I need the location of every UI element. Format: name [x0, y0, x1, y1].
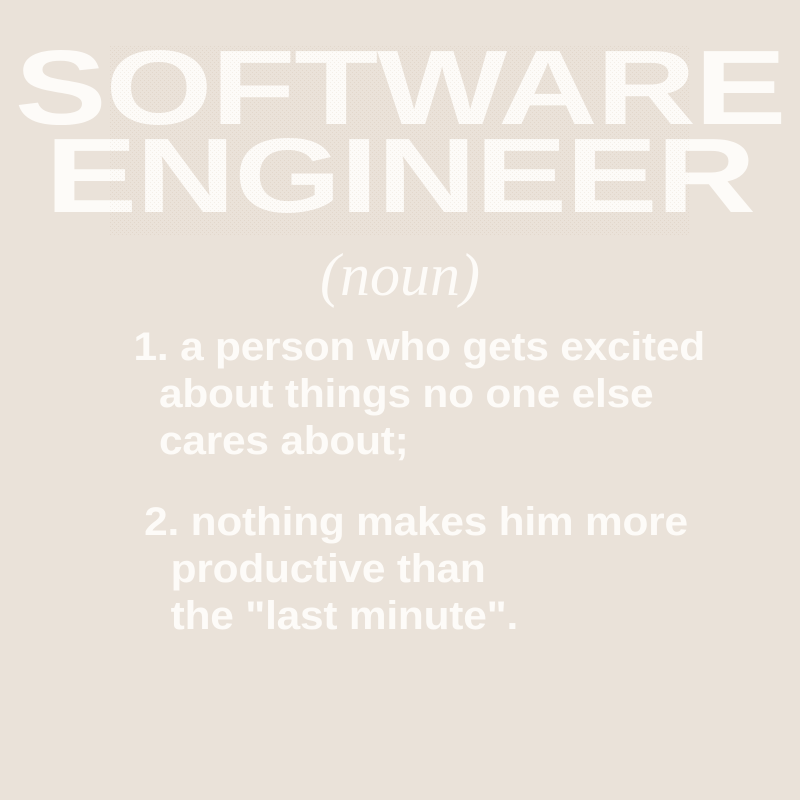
title-line-engineer: ENGINEER	[0, 132, 800, 220]
definition-line: the "last minute".	[0, 593, 800, 640]
definition-line: 2. nothing makes him more	[0, 499, 800, 546]
definition-list: 1. a person who gets excited about thing…	[0, 324, 800, 640]
definition-item: 2. nothing makes him more productive tha…	[0, 499, 800, 640]
part-of-speech: (noun)	[0, 243, 800, 307]
poster-title: SOFTWARE ENGINEER	[0, 44, 800, 220]
definition-item: 1. a person who gets excited about thing…	[0, 324, 800, 465]
definition-line: about things no one else	[0, 371, 800, 418]
definition-line: productive than	[0, 546, 800, 593]
poster-canvas: SOFTWARE ENGINEER (noun) 1. a person who…	[0, 0, 800, 800]
definition-line: cares about;	[0, 418, 800, 465]
part-of-speech-label: (noun)	[320, 243, 480, 307]
definition-line: 1. a person who gets excited	[0, 324, 800, 371]
